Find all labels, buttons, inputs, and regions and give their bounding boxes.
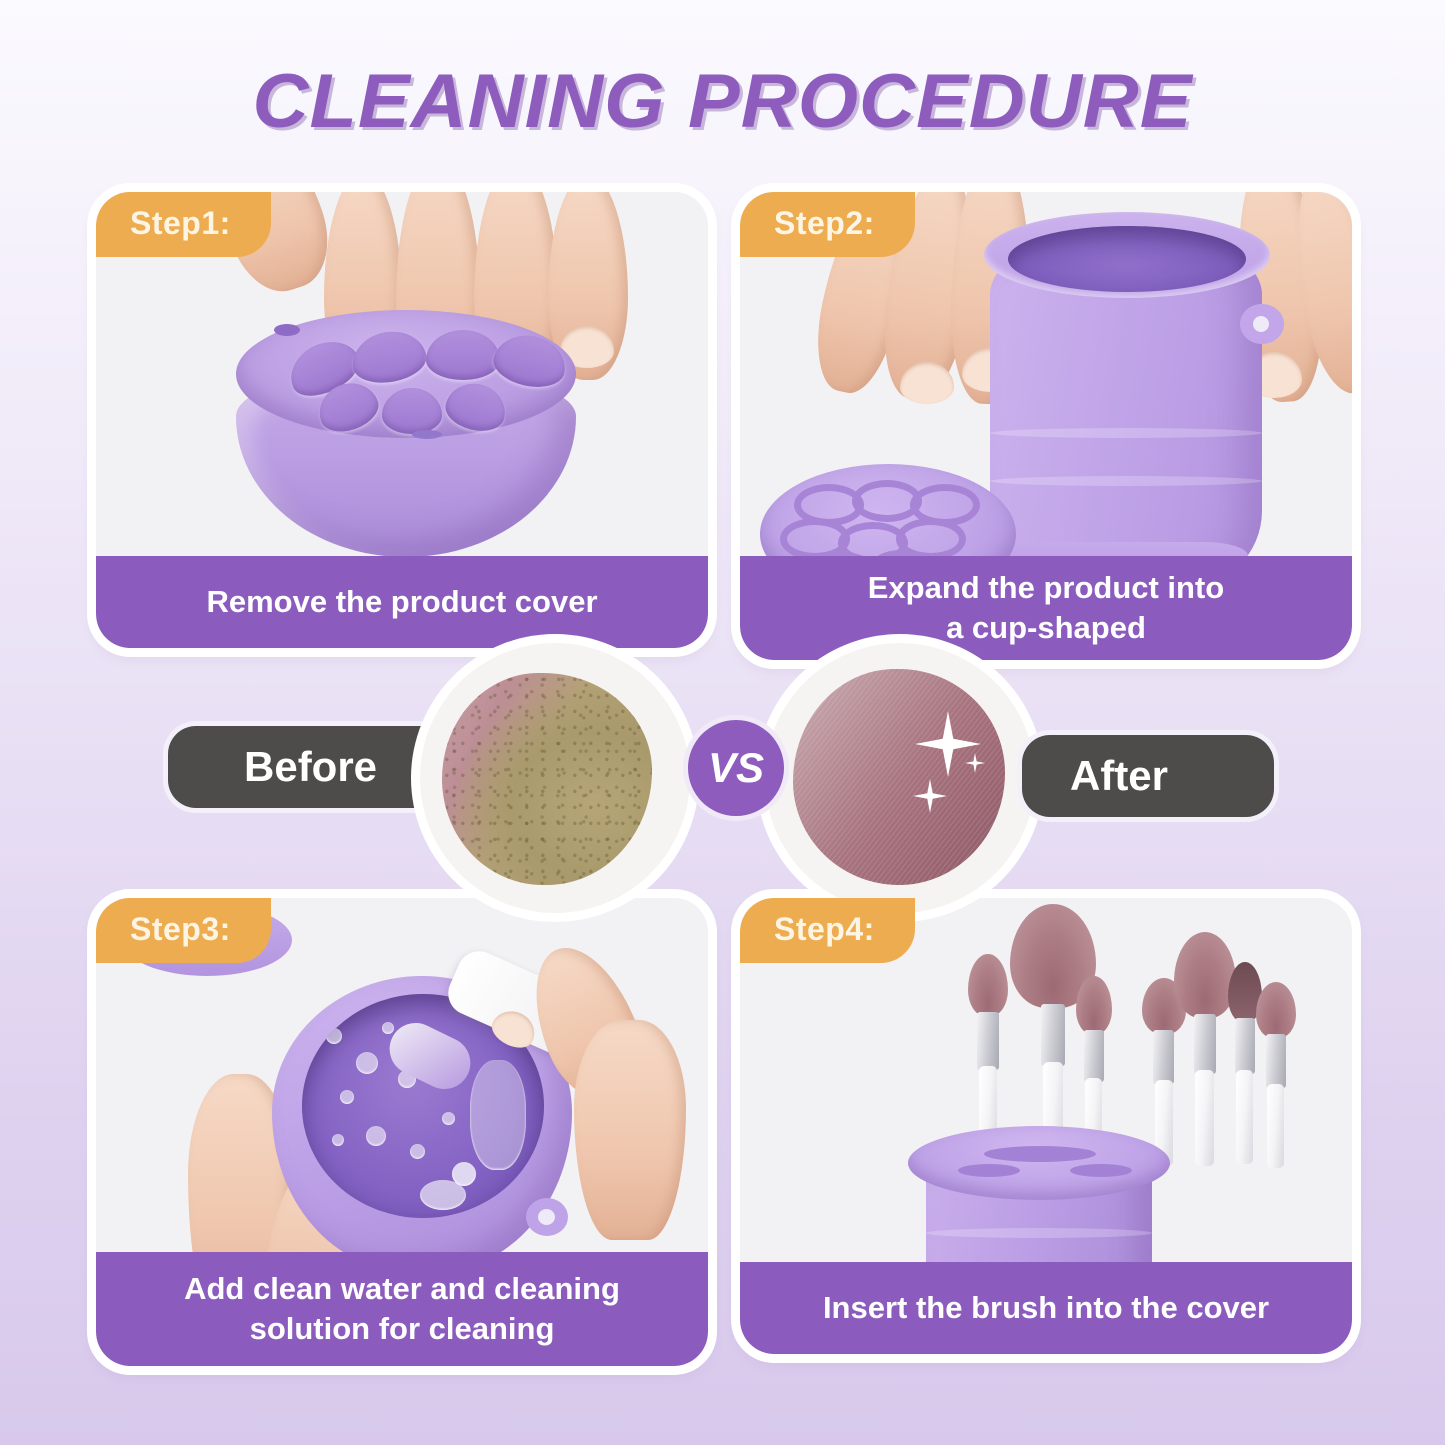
lid-petal bbox=[382, 388, 442, 434]
fingernail bbox=[900, 362, 954, 404]
lid-slot bbox=[958, 1164, 1020, 1177]
makeup-brush bbox=[1256, 980, 1296, 1168]
bubble bbox=[340, 1090, 354, 1104]
cup-fold-ridge bbox=[990, 476, 1262, 486]
clean-brush-head bbox=[793, 669, 1005, 885]
brush-ferrule bbox=[1266, 1034, 1286, 1088]
step-1-caption: Remove the product cover bbox=[96, 556, 708, 648]
page-title: CLEANING PROCEDURE bbox=[0, 58, 1445, 145]
step-3-caption: Add clean water and cleaning solution fo… bbox=[96, 1252, 708, 1366]
lid-slot bbox=[1070, 1164, 1132, 1177]
brush-ferrule bbox=[1041, 1004, 1065, 1066]
bubble bbox=[332, 1134, 344, 1146]
hand-palm bbox=[574, 1020, 686, 1240]
step-3-badge: Step3: bbox=[96, 898, 271, 963]
bubble bbox=[356, 1052, 378, 1074]
bubble bbox=[410, 1144, 425, 1159]
lid-slot bbox=[984, 1146, 1096, 1162]
step-card-3: Step3: Add clean water and cleaning solu… bbox=[96, 898, 708, 1366]
bubble bbox=[326, 1028, 342, 1044]
foam-patch bbox=[470, 1060, 526, 1170]
brush-handle bbox=[1195, 1070, 1214, 1166]
infographic-page: CLEANING PROCEDURE Step1 bbox=[0, 0, 1445, 1445]
step-card-2: Step2: Expand the product into a cup-sha… bbox=[740, 192, 1352, 660]
brush-bristles bbox=[1076, 976, 1112, 1034]
cup-lid-with-brush-slots bbox=[908, 1126, 1170, 1200]
dirty-brush-head bbox=[442, 673, 652, 885]
brush-handle bbox=[1267, 1084, 1284, 1168]
brush-bristles bbox=[968, 954, 1008, 1016]
bubble bbox=[442, 1112, 455, 1125]
step-1-badge: Step1: bbox=[96, 192, 271, 257]
before-photo bbox=[420, 643, 690, 913]
brush-bristles bbox=[1256, 982, 1296, 1038]
makeup-brush bbox=[1174, 934, 1236, 1166]
brush-ferrule bbox=[1084, 1030, 1104, 1082]
step-card-4: Step4: Insert the brush into the cover bbox=[740, 898, 1352, 1354]
step-4-badge: Step4: bbox=[740, 898, 915, 963]
cup-hanging-loop bbox=[1240, 304, 1284, 344]
step-2-caption: Expand the product into a cup-shaped bbox=[740, 556, 1352, 660]
cup-interior bbox=[1008, 226, 1246, 292]
cup-hanging-loop bbox=[526, 1198, 568, 1236]
foam-patch bbox=[420, 1180, 466, 1210]
lid-vent-hole bbox=[274, 324, 300, 336]
step-card-1: Step1: Remove the product cover bbox=[96, 192, 708, 648]
step-2-badge: Step2: bbox=[740, 192, 915, 257]
bubble bbox=[382, 1022, 394, 1034]
step-2-caption-line-2: a cup-shaped bbox=[946, 610, 1146, 645]
after-label-pill: After bbox=[1022, 735, 1274, 817]
lid-vent-hole bbox=[412, 430, 442, 439]
brush-bristles bbox=[1174, 932, 1236, 1018]
after-photo bbox=[765, 643, 1035, 913]
cup-fold-ridge bbox=[990, 428, 1262, 438]
bubble bbox=[366, 1126, 386, 1146]
brush-ferrule bbox=[1194, 1014, 1216, 1074]
brush-handle bbox=[1236, 1070, 1253, 1164]
step-4-caption: Insert the brush into the cover bbox=[740, 1262, 1352, 1354]
cup-fold-ridge bbox=[926, 1228, 1152, 1238]
brush-ferrule bbox=[1235, 1018, 1255, 1074]
step-2-caption-line-1: Expand the product into bbox=[868, 570, 1225, 605]
step-3-caption-line-2: solution for cleaning bbox=[250, 1311, 555, 1346]
brush-ferrule bbox=[1153, 1030, 1174, 1084]
brush-ferrule bbox=[977, 1012, 999, 1070]
vs-badge: VS bbox=[688, 720, 784, 816]
step-3-caption-line-1: Add clean water and cleaning bbox=[184, 1271, 620, 1306]
